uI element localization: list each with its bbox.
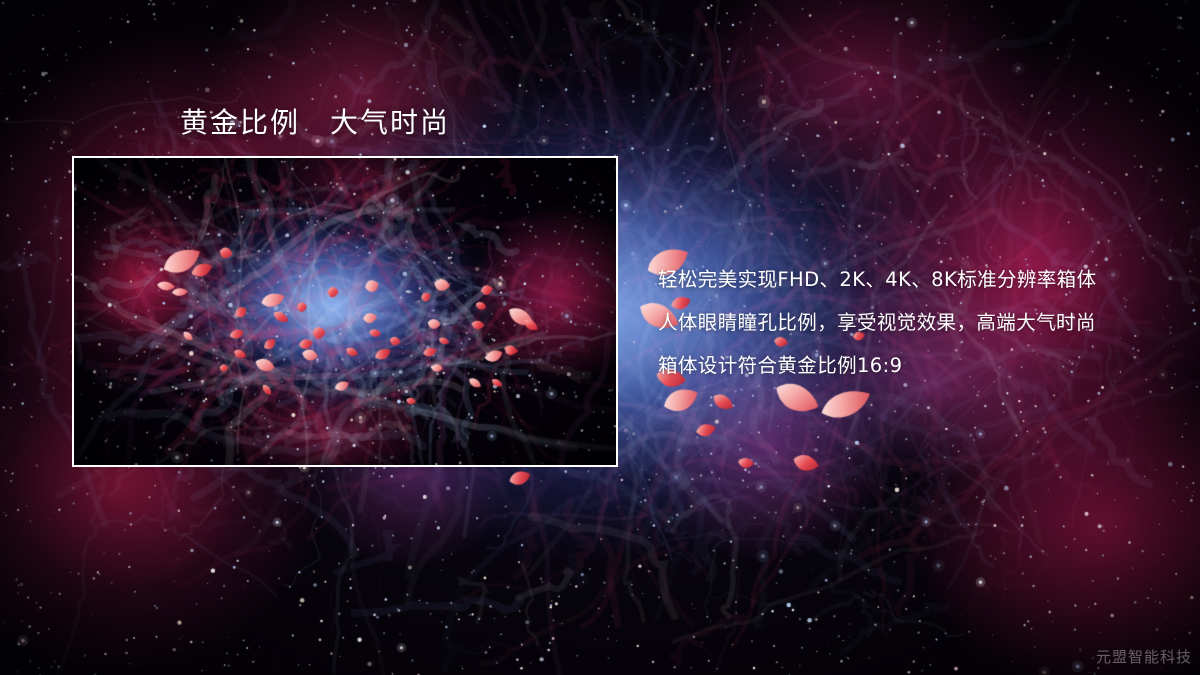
description-text-block: 轻松完美实现FHD、2K、4K、8K标准分辨率箱体 人体眼睛瞳孔比例，享受视觉效… [658,258,1158,387]
panel-vignette [74,158,616,465]
panel-nebula-base [74,158,616,465]
description-line-1: 轻松完美实现FHD、2K、4K、8K标准分辨率箱体 [658,258,1158,301]
watermark-label: 元盟智能科技 [1096,646,1192,667]
panel-starfield [74,158,616,465]
description-line-2: 人体眼睛瞳孔比例，享受视觉效果，高端大气时尚 [658,301,1158,344]
panel-nebula-red [74,158,616,465]
led-display-panel[interactable] [72,156,618,467]
page-title: 黄金比例 大气时尚 [180,101,450,141]
slide-canvas: 黄金比例 大气时尚 轻松完美实现FHD、2K、4K、8K标准分辨率箱体 人体眼睛… [0,0,1200,675]
panel-filaments [74,158,616,465]
panel-petals [74,158,616,465]
description-line-3: 箱体设计符合黄金比例16:9 [658,344,1158,387]
